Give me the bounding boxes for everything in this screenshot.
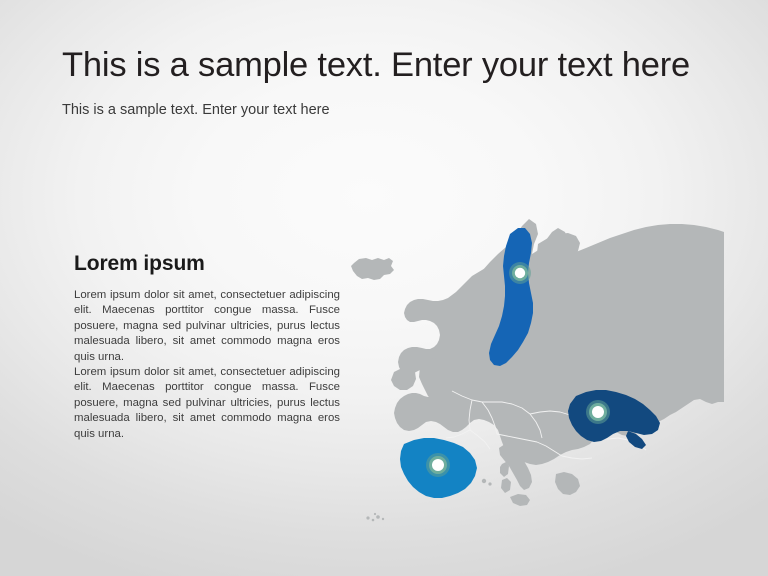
page-subtitle: This is a sample text. Enter your text h… [62,100,562,120]
body-paragraph-1: Lorem ipsum dolor sit amet, consectetuer… [74,288,340,365]
mediterranean-islands [482,462,511,493]
europe-map[interactable] [332,216,724,540]
country-greece [555,472,580,495]
country-iceland [351,258,394,280]
canary-islands [366,513,384,521]
marker-sweden[interactable] [509,262,531,284]
body-heading: Lorem ipsum [74,251,340,277]
slide-canvas: This is a sample text. Enter your text h… [0,0,768,576]
marker-spain[interactable] [426,453,450,477]
map-svg [332,216,724,540]
page-title: This is a sample text. Enter your text h… [62,44,722,86]
marker-ukraine[interactable] [586,400,610,424]
body-text-block: Lorem ipsum Lorem ipsum dolor sit amet, … [74,251,340,442]
body-paragraph-2: Lorem ipsum dolor sit amet, consectetuer… [74,365,340,442]
